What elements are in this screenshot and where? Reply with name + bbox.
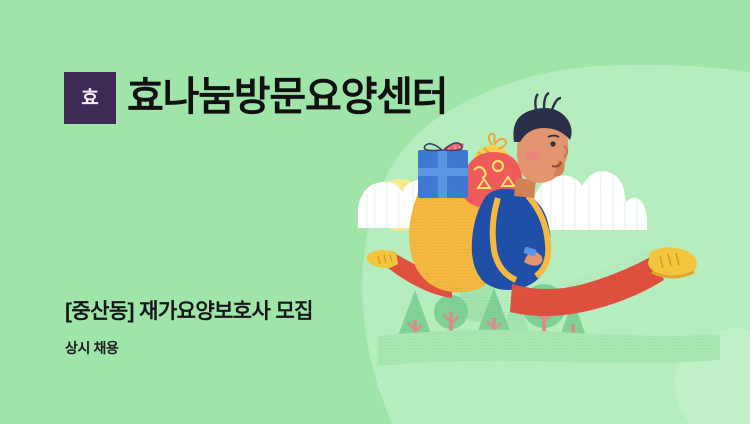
banner-illustration xyxy=(0,0,750,424)
job-posting-banner: 효 효나눔방문요양센터 [중산동] 재가요양보호사 모집 상시 채용 xyxy=(0,0,750,424)
job-posting-title: [중산동] 재가요양보호사 모집 xyxy=(65,298,313,326)
center-logo-mark: 효 xyxy=(64,72,116,124)
job-posting-subtitle: 상시 채용 xyxy=(65,338,118,358)
cheek-blush xyxy=(526,151,540,161)
eye xyxy=(550,141,555,146)
logo-glyph: 효 xyxy=(81,89,98,108)
center-name-title: 효나눔방문요양센터 xyxy=(127,70,447,124)
gift-blue-box xyxy=(418,143,468,198)
